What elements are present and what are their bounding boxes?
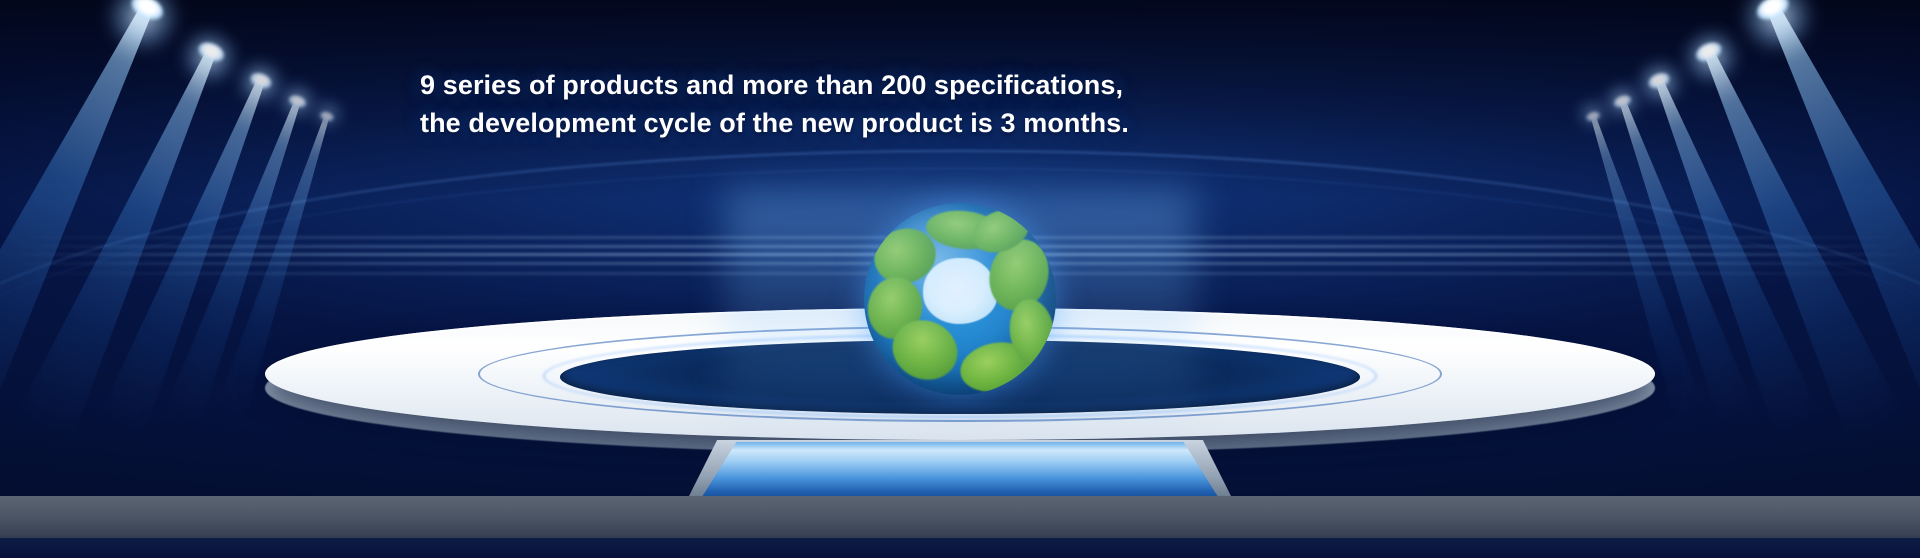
product-showcase-banner: 9 series of products and more than 200 s…: [0, 0, 1920, 558]
stage-base-strip: [0, 538, 1920, 558]
headline-line-2: the development cycle of the new product…: [420, 104, 1129, 142]
ramp-glow: [725, 190, 1195, 440]
ramp-surface: [700, 442, 1220, 500]
stage-assembly: [0, 298, 1920, 558]
headline-line-1: 9 series of products and more than 200 s…: [420, 66, 1129, 104]
banner-headline: 9 series of products and more than 200 s…: [420, 66, 1129, 142]
